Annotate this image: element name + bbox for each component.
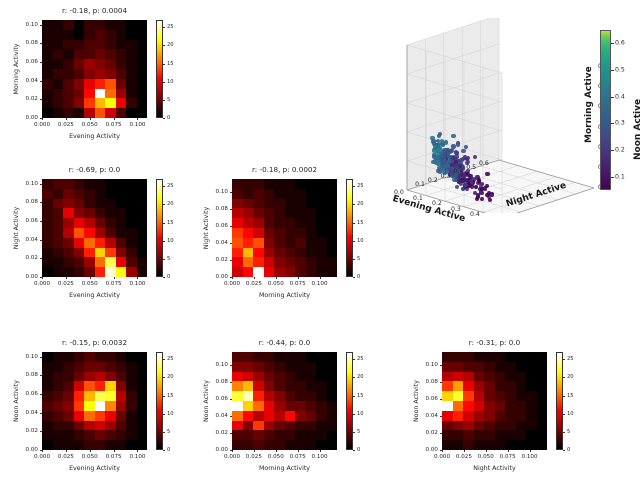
heatmap-cell: [274, 421, 285, 431]
y-tick-label: 0.04: [406, 413, 438, 419]
heatmap-cell: [285, 228, 296, 238]
heatmap-cell: [116, 40, 127, 50]
scatter3d-point: [456, 142, 460, 146]
heatmap-cell: [243, 238, 254, 248]
heatmap-cell: [295, 381, 306, 391]
colorbar-tickmark: [163, 259, 165, 260]
heatmap-cell: [74, 257, 85, 267]
heatmap-cell: [126, 69, 137, 79]
heatmap-cell: [526, 430, 537, 440]
y-tickmark: [40, 25, 42, 26]
x-tick-label: 0.100: [129, 281, 145, 287]
colorbar-tickmark: [563, 414, 565, 415]
heatmap-cell: [484, 401, 495, 411]
heatmap-cell: [116, 238, 127, 248]
heatmap-panel-night-vs-noon: r: -0.31, p: 0.00.0000.0250.0500.0750.10…: [406, 338, 593, 484]
heatmap-cell: [84, 189, 95, 199]
heatmap-cell: [253, 189, 264, 199]
x-tick-label: 0.100: [311, 454, 327, 460]
heatmap-cell: [116, 49, 127, 59]
heatmap-cell: [84, 199, 95, 209]
heatmap-cell: [105, 238, 116, 248]
heatmap-cell: [316, 218, 327, 228]
heatmap-cell: [95, 372, 106, 382]
heatmap-cell: [232, 352, 243, 362]
heatmap-cell: [232, 218, 243, 228]
heatmap-cell: [53, 257, 64, 267]
colorbar-tick-label: 15: [567, 393, 574, 399]
panel-title: r: -0.18, p: 0.0002: [232, 165, 337, 174]
heatmap-cell: [274, 179, 285, 189]
heatmap-cell: [306, 189, 317, 199]
heatmap-cell: [95, 401, 106, 411]
y-tickmark: [230, 209, 232, 210]
heatmap-cell: [505, 440, 516, 450]
x-tick-label: 0.075: [106, 281, 122, 287]
colorbar-tick-label: 15: [357, 393, 364, 399]
heatmap-cell: [442, 421, 453, 431]
heatmap-cell: [74, 89, 85, 99]
colorbar-tickmark: [353, 377, 355, 378]
heatmap-cell: [105, 421, 116, 431]
heatmap-cell: [516, 421, 527, 431]
y-tickmark: [440, 416, 442, 417]
colorbar-tick-label: 0: [357, 274, 360, 280]
heatmap-cell: [63, 40, 74, 50]
heatmap-cell: [126, 59, 137, 69]
heatmap-cell: [95, 440, 106, 450]
heatmap-cell: [327, 362, 338, 372]
heatmap-cell: [474, 362, 485, 372]
heatmap-cell: [95, 30, 106, 40]
heatmap-cell: [137, 362, 148, 372]
heatmap-cell: [243, 381, 254, 391]
heatmap-cell: [316, 430, 327, 440]
y-tickmark: [230, 192, 232, 193]
y-tickmark: [40, 118, 42, 119]
heatmap-cell: [274, 257, 285, 267]
heatmap-cell: [42, 98, 53, 108]
heatmap-cell: [105, 79, 116, 89]
heatmap-cell: [474, 421, 485, 431]
heatmap-cell: [484, 372, 495, 382]
y-tick-label: 0.08: [196, 206, 228, 212]
heatmap-cell: [285, 208, 296, 218]
heatmap-cell: [105, 391, 116, 401]
heatmap-cell: [74, 79, 85, 89]
colorbar-tick-label: 20: [167, 201, 174, 207]
heatmap-cell: [442, 430, 453, 440]
heatmap-cell: [232, 199, 243, 209]
heatmap-cell: [264, 401, 275, 411]
heatmap-cell: [63, 20, 74, 30]
heatmap-cell: [316, 267, 327, 277]
heatmap-cell: [264, 218, 275, 228]
x-tick-label: 0.075: [500, 454, 516, 460]
heatmap-cell: [495, 411, 506, 421]
scatter3d-colorbar: 0.10.20.30.40.50.6: [600, 30, 611, 190]
y-tick-label: 0.00: [406, 447, 438, 453]
x-tick-label: 0.000: [224, 454, 240, 460]
y-tick-label: 0.02: [196, 430, 228, 436]
heatmap-cell: [126, 257, 137, 267]
heatmap-cell: [42, 208, 53, 218]
y-tickmark: [440, 450, 442, 451]
heatmap-cell: [42, 381, 53, 391]
heatmap-cell: [126, 208, 137, 218]
y-tickmark: [440, 365, 442, 366]
x-axis-label: Morning Activity: [232, 465, 337, 472]
y-tickmark: [230, 365, 232, 366]
x-tick-label: 0.075: [290, 281, 306, 287]
colorbar-tickmark: [163, 396, 165, 397]
heatmap-cell: [126, 430, 137, 440]
heatmap-cell: [306, 391, 317, 401]
y-tickmark: [230, 226, 232, 227]
heatmap-cell: [63, 352, 74, 362]
heatmap-cell: [474, 411, 485, 421]
heatmap-cell: [95, 238, 106, 248]
heatmap-cell: [116, 257, 127, 267]
colorbar-tick-label: 20: [167, 42, 174, 48]
heatmap-cell: [137, 89, 148, 99]
x-tick-label: 0.025: [246, 281, 262, 287]
heatmap-cell: [95, 79, 106, 89]
heatmap-cell: [295, 189, 306, 199]
scatter3d-point: [459, 158, 463, 162]
colorbar-tick-label: 0.5: [615, 67, 625, 74]
heatmap-cell: [253, 430, 264, 440]
heatmap-cell: [306, 248, 317, 258]
heatmap-cell: [253, 440, 264, 450]
heatmap-cell: [105, 218, 116, 228]
y-axis-label: Noon Activity: [203, 352, 210, 450]
heatmap-cell: [84, 372, 95, 382]
heatmap-cell: [232, 228, 243, 238]
heatmap-cell: [274, 362, 285, 372]
heatmap-cell: [505, 411, 516, 421]
heatmap-cell: [42, 401, 53, 411]
colorbar-tickmark: [563, 396, 565, 397]
y-axis-label: Noon Activity: [13, 352, 20, 450]
x-tickmark: [530, 450, 531, 452]
heatmap-cell: [53, 352, 64, 362]
heatmap-cell: [74, 69, 85, 79]
colorbar-tickmark: [353, 450, 355, 451]
x-tick-label: 0.000: [34, 454, 50, 460]
heatmap-cell: [116, 199, 127, 209]
heatmap-cell: [327, 257, 338, 267]
scatter3d-point: [461, 149, 465, 153]
y-tickmark: [40, 202, 42, 203]
heatmap-cell: [327, 218, 338, 228]
heatmap-cell: [53, 238, 64, 248]
heatmap-cell: [285, 267, 296, 277]
heatmap-cell: [495, 352, 506, 362]
heatmap-cell: [74, 238, 85, 248]
heatmap-cell: [63, 440, 74, 450]
heatmap-cell: [232, 208, 243, 218]
heatmap-cell: [42, 179, 53, 189]
heatmap-cell: [327, 391, 338, 401]
heatmap-cell: [137, 430, 148, 440]
x-axis-label: Evening Activity: [42, 133, 147, 140]
heatmap-cell: [495, 430, 506, 440]
heatmap-cell: [306, 238, 317, 248]
heatmap-cell: [137, 69, 148, 79]
heatmap-cell: [74, 421, 85, 431]
x-tickmark: [137, 118, 138, 120]
heatmap-cell: [505, 362, 516, 372]
heatmap-cell: [95, 199, 106, 209]
heatmap-cell: [442, 401, 453, 411]
colorbar-tickmark: [563, 377, 565, 378]
heatmap-cell: [126, 20, 137, 30]
heatmap-cell: [74, 179, 85, 189]
heatmap-cell: [42, 49, 53, 59]
colorbar-tickmark: [611, 177, 614, 178]
heatmap-cell: [74, 98, 85, 108]
heatmap-cell: [126, 440, 137, 450]
heatmap-cell: [274, 267, 285, 277]
heatmap-cell: [84, 20, 95, 30]
heatmap-cell: [306, 257, 317, 267]
heatmap-cell: [274, 208, 285, 218]
heatmap-cell: [63, 59, 74, 69]
heatmap-cell: [116, 189, 127, 199]
heatmap-cell: [253, 257, 264, 267]
colorbar-tick-label: 0: [167, 274, 170, 280]
x-tickmark: [137, 450, 138, 452]
heatmap-cell: [232, 421, 243, 431]
heatmap-cell: [84, 89, 95, 99]
colorbar-tickmark: [163, 223, 165, 224]
x-tickmark: [508, 450, 509, 452]
heatmap-cell: [84, 381, 95, 391]
heatmap-cell: [253, 199, 264, 209]
colorbar-tickmark: [163, 432, 165, 433]
heatmap-cell: [285, 421, 296, 431]
panel-title: r: -0.69, p: 0.0: [42, 165, 147, 174]
colorbar-tickmark: [563, 432, 565, 433]
heatmap-cell: [295, 440, 306, 450]
y-tickmark: [40, 184, 42, 185]
heatmap-cell: [306, 208, 317, 218]
heatmap-cell: [105, 98, 116, 108]
heatmap-cell: [264, 352, 275, 362]
heatmap-cell: [126, 79, 137, 89]
colorbar-tickmark: [611, 150, 614, 151]
heatmap-cell: [53, 218, 64, 228]
heatmap-cell: [105, 89, 116, 99]
heatmap-cell: [453, 411, 464, 421]
y-tickmark: [40, 240, 42, 241]
heatmap-cell: [285, 401, 296, 411]
heatmap-cell: [285, 218, 296, 228]
heatmap-cell: [306, 228, 317, 238]
heatmap-cell: [316, 199, 327, 209]
heatmap-cell: [74, 401, 85, 411]
heatmap-cell: [232, 440, 243, 450]
heatmap-cell: [42, 248, 53, 258]
heatmap-colorbar: 0510152025: [156, 352, 163, 450]
heatmap-cell: [126, 218, 137, 228]
heatmap-cell: [74, 30, 85, 40]
x-axis-label: Morning Activity: [232, 292, 337, 299]
scatter3d-point: [431, 160, 435, 164]
heatmap-cell: [442, 352, 453, 362]
heatmap-cell: [84, 69, 95, 79]
colorbar-tick-label: 10: [567, 411, 574, 417]
heatmap-cell: [42, 108, 53, 118]
heatmap-cell: [84, 238, 95, 248]
heatmap-cell: [264, 267, 275, 277]
colorbar-gradient: [556, 352, 563, 450]
x-tickmark: [232, 450, 233, 452]
heatmap-cell: [495, 401, 506, 411]
heatmap-cell: [137, 199, 148, 209]
heatmap-cell: [327, 430, 338, 440]
heatmap-cell: [316, 411, 327, 421]
heatmap-cell: [495, 372, 506, 382]
colorbar-tick-label: 15: [167, 220, 174, 226]
x-tickmark: [90, 118, 91, 120]
heatmap-cell: [63, 401, 74, 411]
heatmap-cell: [253, 352, 264, 362]
heatmap-cell: [116, 208, 127, 218]
heatmap-cell: [463, 430, 474, 440]
x-tickmark: [276, 277, 277, 279]
heatmap-cell: [537, 430, 548, 440]
heatmap-cell: [42, 69, 53, 79]
scatter3d-point: [455, 185, 459, 189]
heatmap-cell: [74, 391, 85, 401]
y-tick-label: 0.06: [196, 223, 228, 229]
x-tickmark: [66, 118, 67, 120]
colorbar-tick-label: 10: [167, 411, 174, 417]
scatter3d-point: [488, 198, 492, 202]
heatmap-cell: [84, 59, 95, 69]
heatmap-cell: [137, 30, 148, 40]
heatmap-cell: [274, 372, 285, 382]
y-tickmark: [40, 413, 42, 414]
heatmap-cell: [105, 267, 116, 277]
x-tick-label: 0.050: [82, 122, 98, 128]
heatmap-cell: [264, 238, 275, 248]
x-tick-label: 0.050: [82, 281, 98, 287]
heatmap-cell: [95, 179, 106, 189]
heatmap-cell: [53, 411, 64, 421]
heatmap-cell: [42, 421, 53, 431]
heatmap-cell: [306, 401, 317, 411]
heatmap-cell: [42, 228, 53, 238]
heatmap-cell: [63, 108, 74, 118]
heatmap-cell: [526, 362, 537, 372]
heatmap-cell: [137, 257, 148, 267]
heatmap-cell: [526, 411, 537, 421]
x-tickmark: [66, 450, 67, 452]
scatter3d-y-tick: 0.5: [466, 164, 476, 171]
heatmap-cell: [243, 352, 254, 362]
heatmap-cell: [126, 189, 137, 199]
y-tick-label: 0.04: [6, 410, 38, 416]
heatmap-cell: [274, 411, 285, 421]
x-tickmark: [254, 277, 255, 279]
y-axis-label: Night Activity: [13, 179, 20, 277]
heatmap-cell: [105, 228, 116, 238]
heatmap-cell: [42, 59, 53, 69]
heatmap-cell: [243, 411, 254, 421]
heatmap-cell: [126, 352, 137, 362]
x-tick-label: 0.050: [82, 454, 98, 460]
heatmap-cell: [63, 218, 74, 228]
heatmap-cell: [306, 362, 317, 372]
heatmap-cell: [327, 381, 338, 391]
heatmap-cell: [53, 267, 64, 277]
colorbar-tick-label: 15: [357, 220, 364, 226]
heatmap-cell: [274, 401, 285, 411]
y-tickmark: [230, 260, 232, 261]
figure-canvas: r: -0.18, p: 0.00040.0000.0250.0500.0750…: [0, 0, 640, 482]
heatmap-cell: [243, 362, 254, 372]
heatmap-cell: [537, 401, 548, 411]
heatmap-cell: [42, 30, 53, 40]
heatmap-cell: [116, 179, 127, 189]
heatmap-cell: [137, 401, 148, 411]
heatmap-cell: [116, 69, 127, 79]
heatmap-cell: [285, 257, 296, 267]
heatmap-cell: [442, 411, 453, 421]
heatmap-cell: [116, 381, 127, 391]
y-tick-label: 0.04: [6, 78, 38, 84]
heatmap-cell: [463, 440, 474, 450]
heatmap-cell: [526, 381, 537, 391]
heatmap-cell: [126, 108, 137, 118]
heatmap-cell: [63, 267, 74, 277]
x-tick-label: 0.000: [434, 454, 450, 460]
heatmap-cell: [137, 267, 148, 277]
heatmap-cell: [327, 372, 338, 382]
heatmap-cell: [316, 238, 327, 248]
x-tickmark: [66, 277, 67, 279]
heatmap-cell: [274, 199, 285, 209]
colorbar-tickmark: [163, 377, 165, 378]
heatmap-cell: [137, 391, 148, 401]
heatmap-cell: [285, 440, 296, 450]
heatmap-cell: [463, 401, 474, 411]
heatmap-cell: [274, 391, 285, 401]
heatmap-cell: [442, 362, 453, 372]
colorbar-tick-label: 5: [167, 256, 170, 262]
heatmap-cell: [63, 381, 74, 391]
heatmap-cell: [84, 228, 95, 238]
heatmap-cell: [105, 49, 116, 59]
panel-title: r: -0.31, p: 0.0: [442, 338, 547, 347]
heatmap-cell: [264, 199, 275, 209]
x-tick-label: 0.000: [34, 122, 50, 128]
heatmap-cell: [232, 430, 243, 440]
colorbar-tick-label: 5: [167, 429, 170, 435]
heatmap-cell: [95, 267, 106, 277]
x-tick-label: 0.000: [224, 281, 240, 287]
heatmap-grid: [232, 352, 337, 450]
colorbar-tick-label: 0: [167, 447, 170, 453]
heatmap-cell: [232, 248, 243, 258]
y-tickmark: [40, 81, 42, 82]
heatmap-cell: [474, 401, 485, 411]
colorbar-tickmark: [353, 277, 355, 278]
heatmap-cell: [116, 59, 127, 69]
